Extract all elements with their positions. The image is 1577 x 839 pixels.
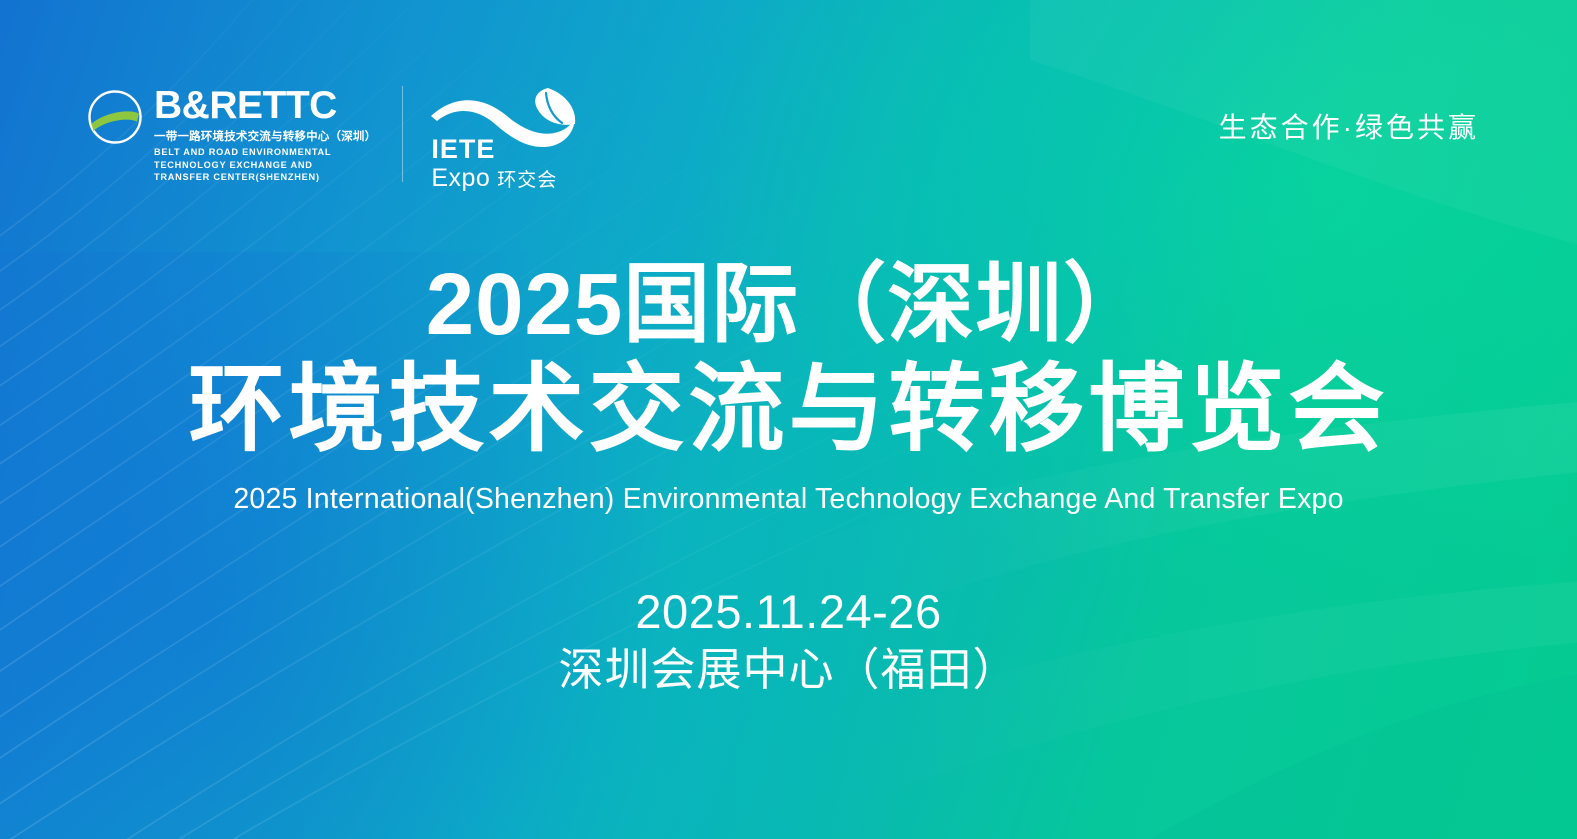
brettc-logo[interactable]: B&RETTC 一带一路环境技术交流与转移中心（深圳） BELT AND ROA… <box>86 86 403 182</box>
globe-ring-icon <box>86 88 144 151</box>
brettc-english-name: BELT AND ROAD ENVIRONMENTAL TECHNOLOGY E… <box>154 146 340 182</box>
event-venue: 深圳会展中心（福田） <box>0 643 1577 697</box>
event-poster: B&RETTC 一带一路环境技术交流与转移中心（深圳） BELT AND ROA… <box>0 0 1577 839</box>
iete-expo-logo[interactable]: IETE Expo 环交会 <box>429 86 589 186</box>
page-title-line-2: 环境技术交流与转移博览会 <box>0 356 1577 464</box>
poster-header: B&RETTC 一带一路环境技术交流与转移中心（深圳） BELT AND ROA… <box>0 0 1577 200</box>
brettc-chinese-name: 一带一路环境技术交流与转移中心（深圳） <box>154 130 376 144</box>
poster-slogan: 生态合作·绿色共赢 <box>1219 106 1479 146</box>
event-info-block: 2025.11.24-26 深圳会展中心（福田） <box>0 586 1577 697</box>
iete-acronym: IETE <box>431 134 495 164</box>
iete-expo-word: Expo <box>431 166 490 191</box>
poster-main-content: 2025国际（深圳） 环境技术交流与转移博览会 2025 Internation… <box>0 258 1577 697</box>
iete-chinese-short: 环交会 <box>497 171 557 190</box>
page-title-line-1: 2025国际（深圳） <box>0 258 1577 352</box>
iete-subline: Expo 环交会 <box>431 166 557 191</box>
brettc-text-block: B&RETTC 一带一路环境技术交流与转移中心（深圳） BELT AND ROA… <box>154 86 376 183</box>
iete-wordmark-block: IETE Expo 环交会 <box>431 136 557 191</box>
brettc-wordmark: B&RETTC <box>154 86 376 125</box>
page-subtitle-english: 2025 International(Shenzhen) Environment… <box>0 485 1577 514</box>
event-date: 2025.11.24-26 <box>0 586 1577 639</box>
logo-lockup: B&RETTC 一带一路环境技术交流与转移中心（深圳） BELT AND ROA… <box>86 86 589 186</box>
